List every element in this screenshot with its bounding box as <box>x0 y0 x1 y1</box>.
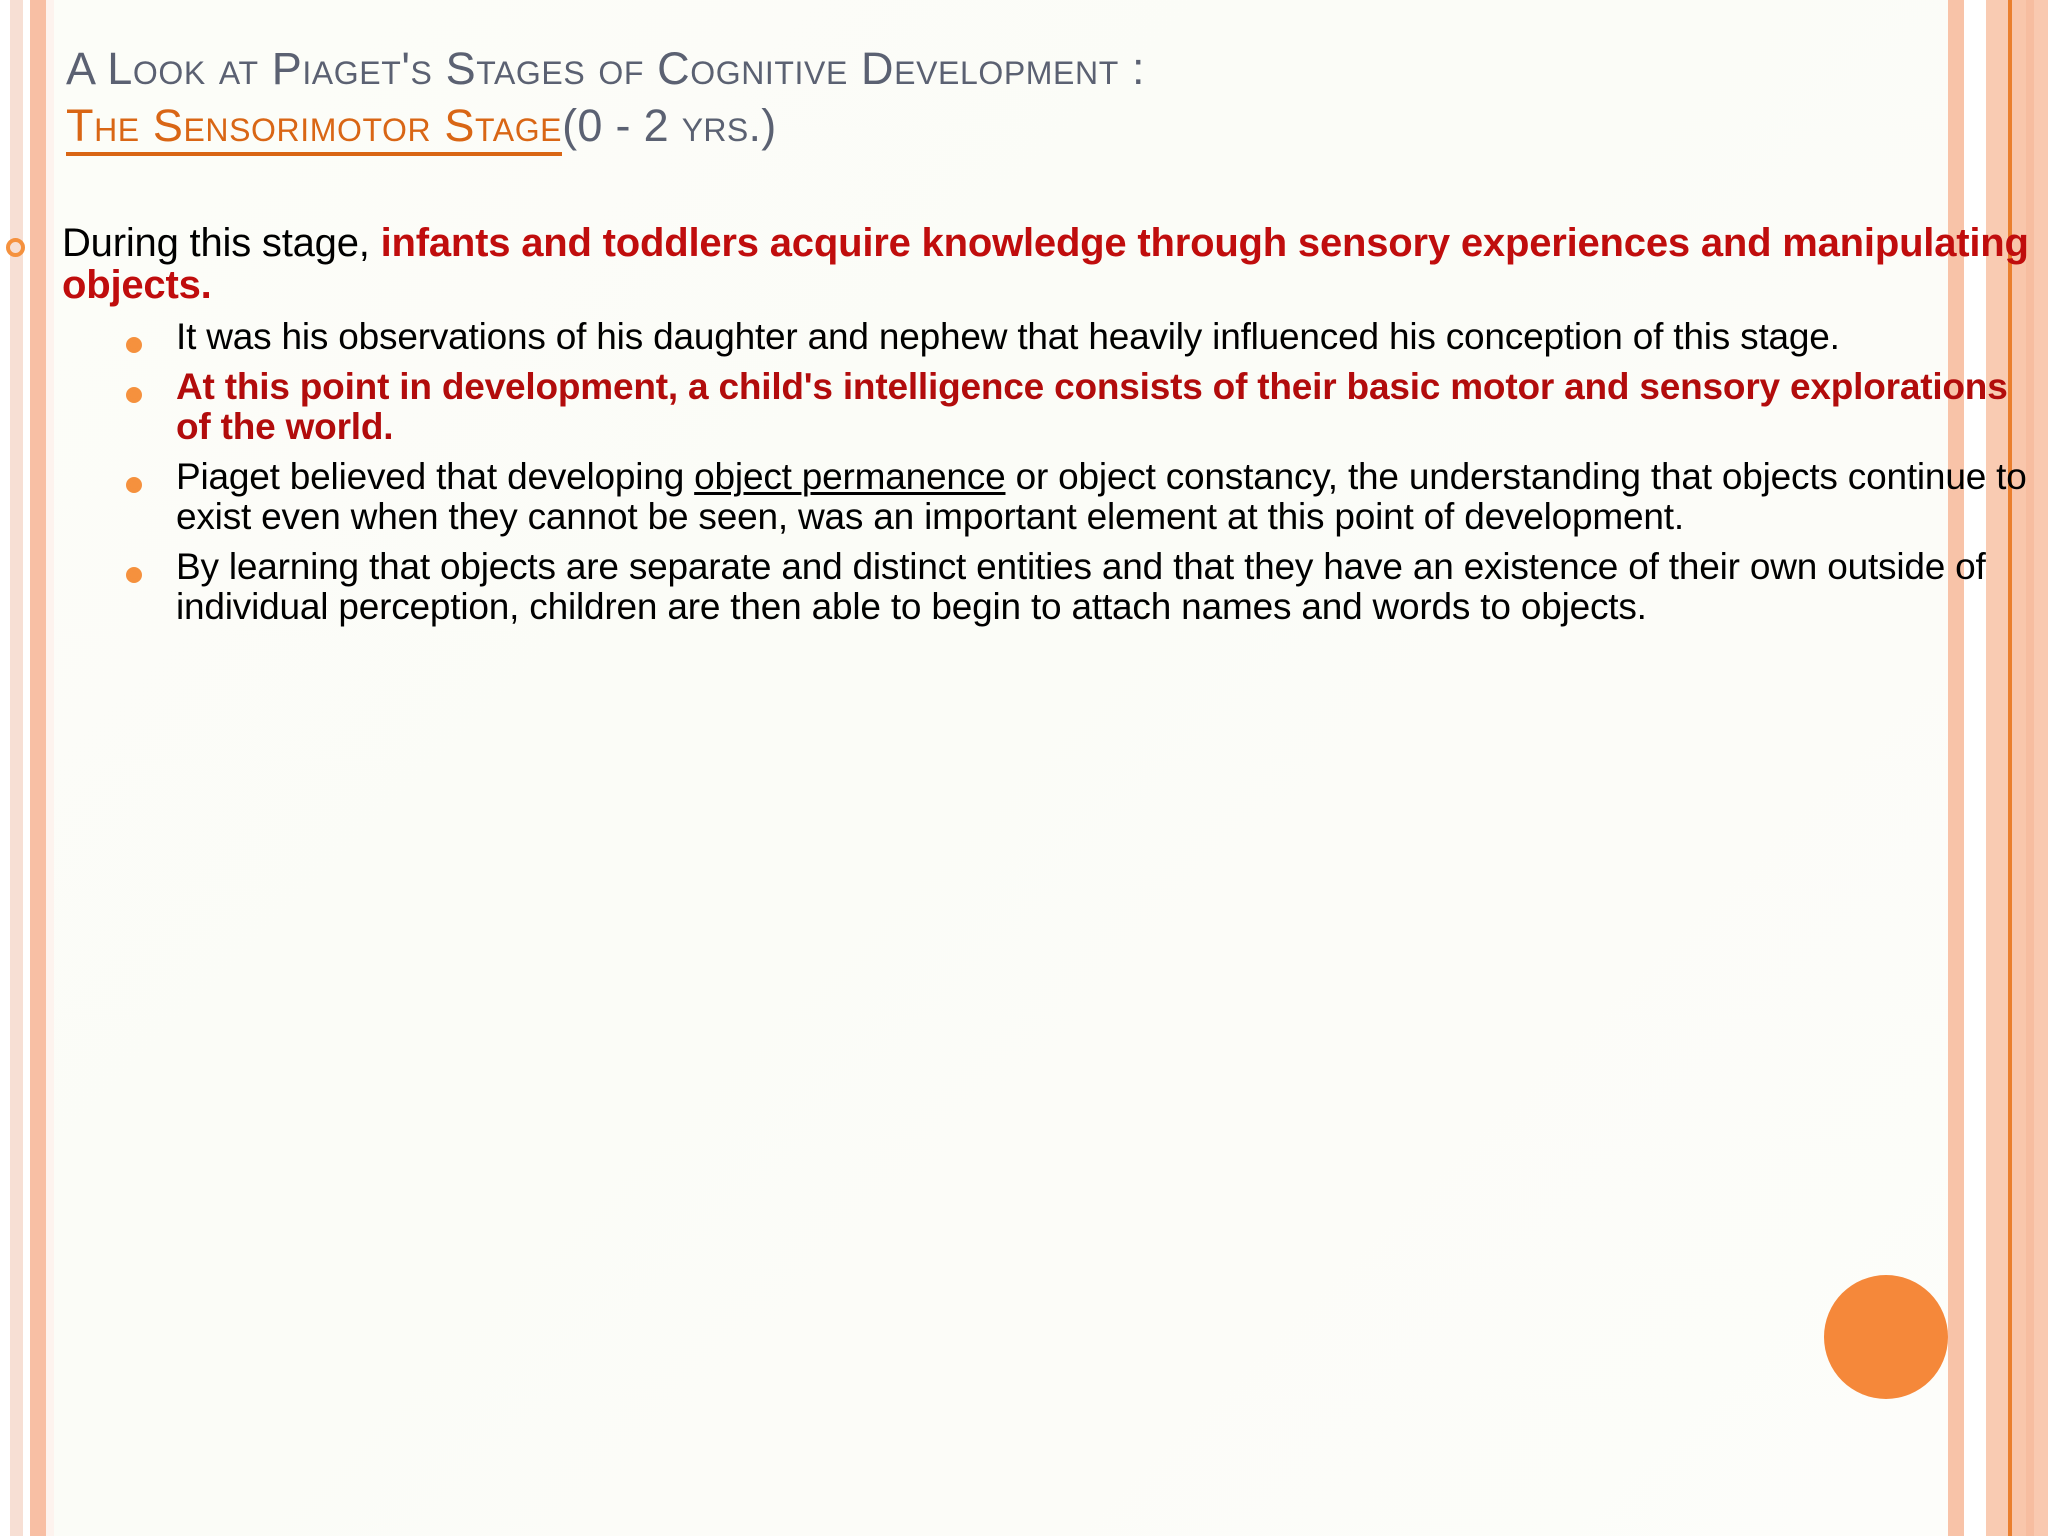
text-segment-emphasis: At this point in development, a child's … <box>176 366 2008 447</box>
text-segment-plain: Piaget believed that developing <box>176 456 694 497</box>
filled-dot-bullet-icon <box>126 387 142 403</box>
decorative-orange-circle <box>1824 1275 1948 1399</box>
list-item-text: It was his observations of his daughter … <box>176 317 2038 357</box>
slide-title-block: A Look at Piaget's Stages of Cognitive D… <box>66 42 2028 152</box>
slide-subtitle-stage-name: The Sensorimotor Stage <box>66 100 562 156</box>
list-item-text: At this point in development, a child's … <box>176 367 2038 447</box>
text-segment-plain: By learning that objects are separate an… <box>176 546 1986 627</box>
slide-body-list: During this stage, infants and toddlers … <box>0 222 2038 636</box>
text-segment-plain: During this stage, <box>62 221 381 265</box>
filled-dot-bullet-icon <box>126 477 142 493</box>
filled-dot-bullet-icon <box>126 567 142 583</box>
filled-dot-bullet-icon <box>126 337 142 353</box>
text-segment-underlined-term: object permanence <box>694 456 1005 497</box>
slide-title-secondary: The Sensorimotor Stage(0 - 2 yrs.) <box>66 99 2028 152</box>
list-item-text: Piaget believed that developing object p… <box>176 457 2038 537</box>
list-item: By learning that objects are separate an… <box>114 547 2038 627</box>
list-item: During this stage, infants and toddlers … <box>0 222 2038 626</box>
hollow-circle-bullet-icon <box>6 238 25 257</box>
list-item: At this point in development, a child's … <box>114 367 2038 447</box>
slide-subtitle-age-range: (0 - 2 yrs.) <box>562 100 776 151</box>
list-item: It was his observations of his daughter … <box>114 317 2038 357</box>
list-item-text: By learning that objects are separate an… <box>176 547 2038 627</box>
list-item-text: During this stage, infants and toddlers … <box>62 222 2038 307</box>
slide-canvas: A Look at Piaget's Stages of Cognitive D… <box>0 0 2048 1536</box>
sub-bullet-list: It was his observations of his daughter … <box>114 317 2038 627</box>
slide-title-primary: A Look at Piaget's Stages of Cognitive D… <box>66 42 2028 95</box>
text-segment-plain: It was his observations of his daughter … <box>176 316 1840 357</box>
list-item: Piaget believed that developing object p… <box>114 457 2038 537</box>
